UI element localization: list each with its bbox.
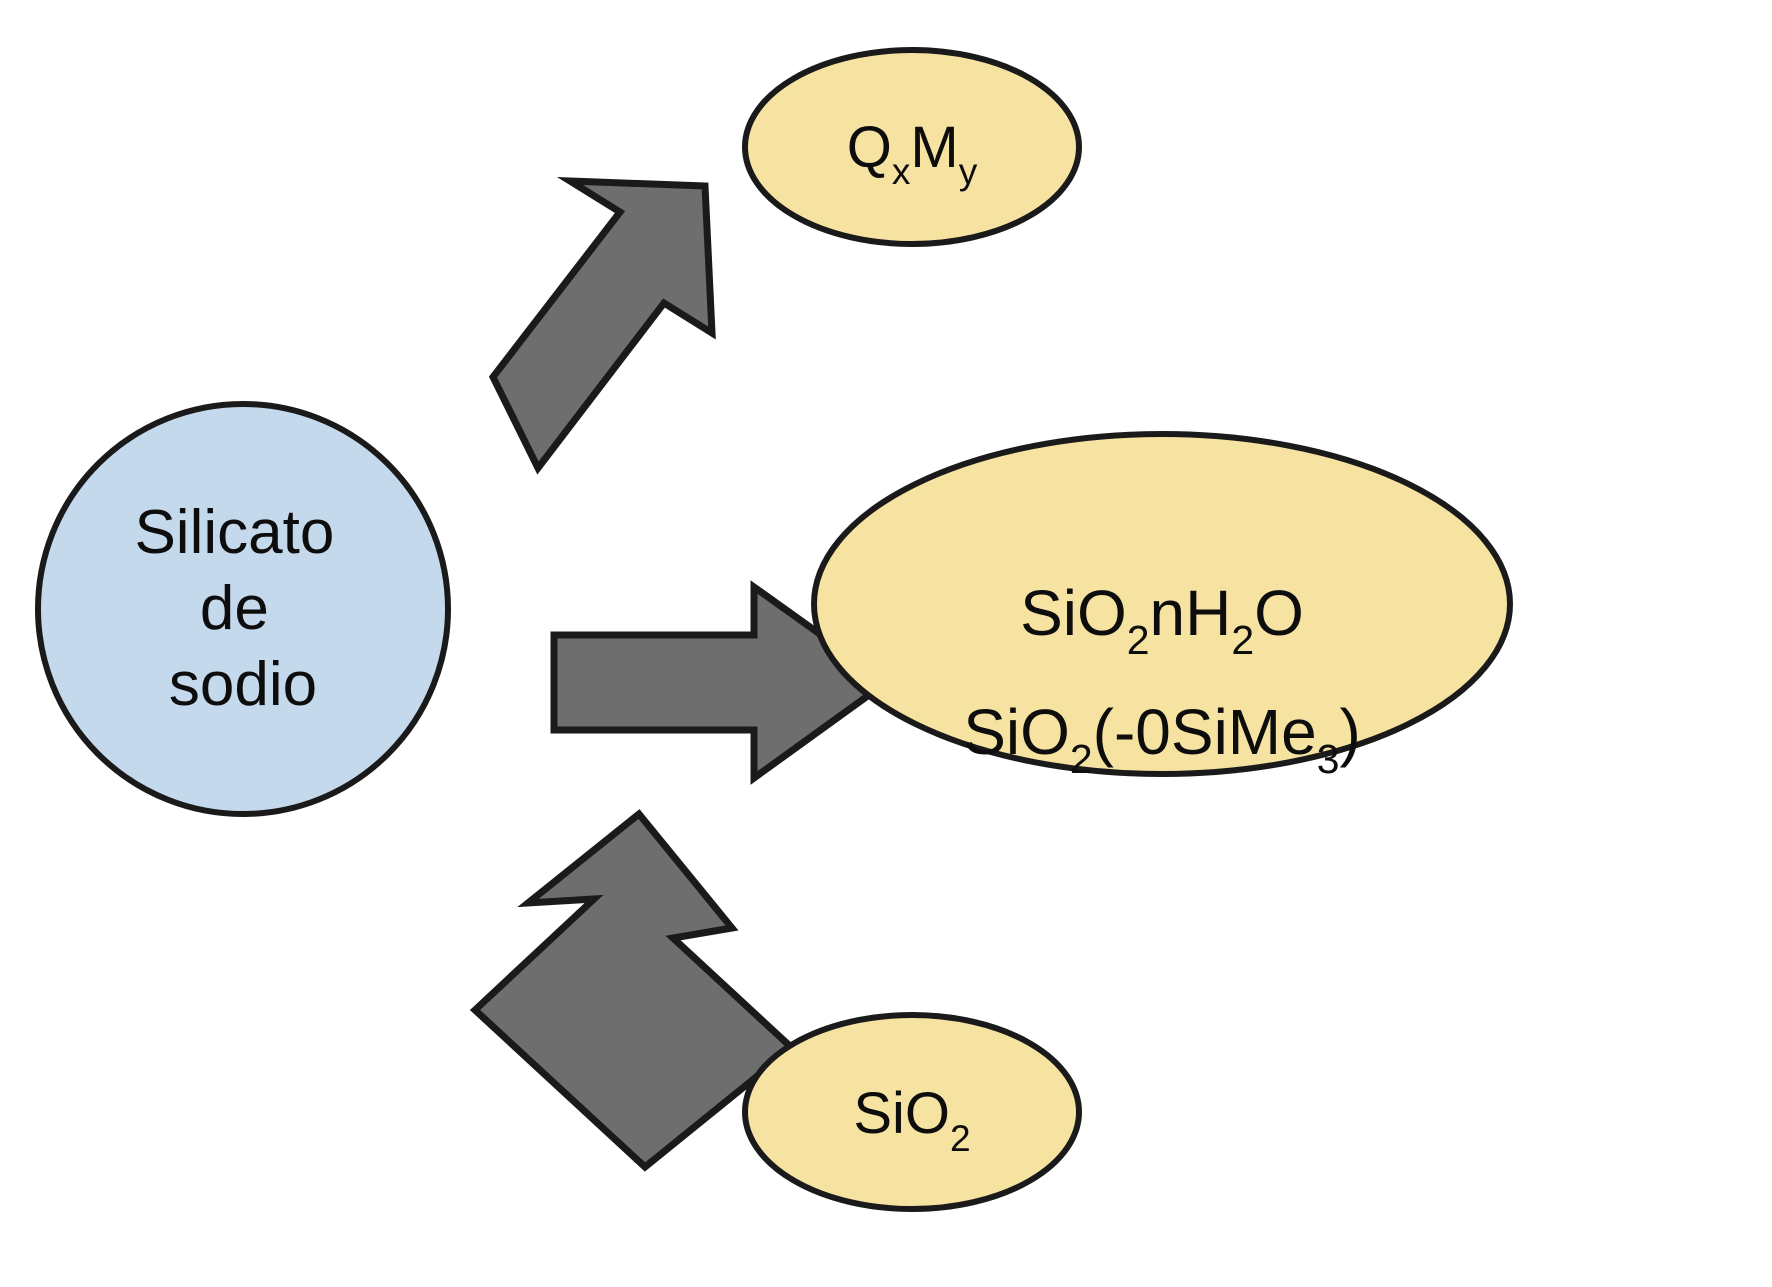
source-line-2: de [200, 574, 269, 643]
l2-part-sio: SiO [963, 696, 1070, 768]
l1-part-sio: SiO [1020, 577, 1127, 649]
l1-part-o: O [1254, 577, 1304, 649]
l2-part-3: 3 [1317, 736, 1340, 782]
qxmy-part-y: y [959, 150, 978, 192]
qxmy-part-q: Q [847, 115, 892, 180]
l1-part-nh: nH [1150, 577, 1232, 649]
product-node-sio2nh2o[interactable]: SiO2nH2O SiO2(-0SiMe3) [814, 434, 1510, 782]
source-node-silicato-de-sodio[interactable]: Silicato de sodio [38, 404, 448, 814]
qxmy-part-m: M [910, 115, 958, 180]
arrow-up-right-icon[interactable] [493, 181, 712, 468]
arrow-up-right-node[interactable] [493, 181, 712, 468]
source-line-3: sodio [169, 650, 317, 719]
flow-diagram: Silicato de sodio QxMy SiO2nH2O SiO2(-0S… [0, 0, 1772, 1287]
l2-part-osime: (-0SiMe [1093, 696, 1317, 768]
l2-part-close: ) [1339, 696, 1360, 768]
l1-part-2a: 2 [1127, 617, 1150, 663]
source-line-1: Silicato [134, 498, 334, 567]
qxmy-part-x: x [892, 150, 911, 192]
l2-part-2: 2 [1070, 736, 1093, 782]
sio2-part-2: 2 [950, 1117, 971, 1159]
sio2-part-sio: SiO [853, 1081, 950, 1146]
product-node-qxmy[interactable]: QxMy [745, 50, 1079, 244]
product-node-sio2[interactable]: SiO2 [745, 1015, 1079, 1209]
diagram-canvas: Silicato de sodio QxMy SiO2nH2O SiO2(-0S… [0, 0, 1772, 1287]
l1-part-2b: 2 [1231, 617, 1254, 663]
